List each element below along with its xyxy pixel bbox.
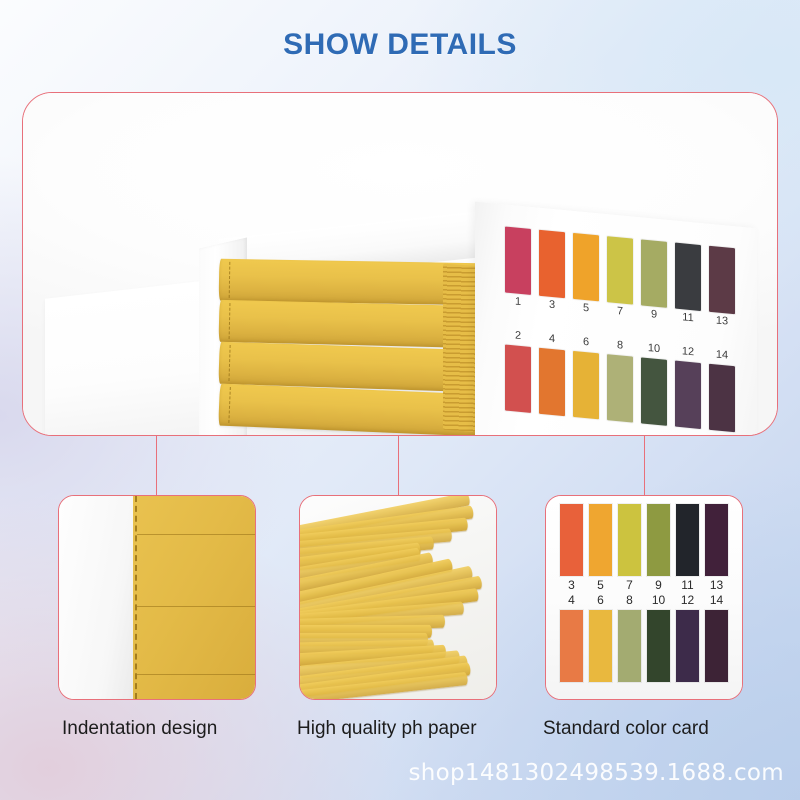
color-swatch-cell: 7 [607,236,633,324]
color-swatch [709,246,735,314]
ph-value-label: 1 [505,295,531,309]
color-swatch [647,610,670,682]
page-title: SHOW DETAILS [0,28,800,62]
ph-paper-surface [133,496,256,699]
color-swatch [573,233,599,301]
color-swatch-cell: 5 [573,233,599,321]
connector-line-1 [156,436,157,495]
ph-value-label: 5 [589,578,612,592]
color-card-row-odd: 35791113 [552,504,736,576]
color-swatch [560,610,583,682]
color-card-cell: 4 [560,610,583,682]
color-swatch [675,243,701,311]
color-card-cell: 10 [647,610,670,682]
color-swatch [676,504,699,576]
color-card-cell: 11 [676,504,699,576]
booklet-front-flap [45,279,217,436]
color-swatch [641,357,667,425]
color-swatch [709,364,735,432]
color-swatch-cell: 13 [709,246,735,334]
color-swatch-cell: 3 [539,230,565,318]
ph-value-label: 12 [676,593,699,607]
color-chart-row-odd: 135791113 [505,227,745,336]
ph-value-label: 13 [705,578,728,592]
color-swatch-cell: 8 [607,336,633,424]
ph-value-label: 9 [647,578,670,592]
ph-value-label: 11 [676,578,699,592]
color-swatch [573,351,599,419]
color-card-cell: 12 [676,610,699,682]
thumbnail-high-quality-ph-paper[interactable] [299,495,497,700]
color-chart-row-even: 2468101214 [505,327,745,436]
color-swatch [705,504,728,576]
indentation-crease [137,606,256,607]
color-swatch [618,504,641,576]
color-swatch-cell: 14 [709,346,735,434]
color-swatch-cell: 1 [505,227,531,315]
ph-value-label: 10 [641,341,667,355]
connector-line-3 [644,436,645,495]
color-card-cell: 7 [618,504,641,576]
indentation-crease [137,534,256,535]
color-swatch [641,239,667,307]
color-swatch [505,345,531,413]
color-card-cell: 3 [560,504,583,576]
color-swatch [607,236,633,304]
color-card-cell: 14 [705,610,728,682]
color-swatch [705,610,728,682]
ph-value-label: 4 [560,593,583,607]
caption-indentation-design: Indentation design [62,718,217,740]
color-swatch [618,610,641,682]
perforation-line [228,345,230,381]
ph-strip-stack [219,261,481,436]
ph-value-label: 3 [539,298,565,312]
ph-value-label: 6 [573,335,599,349]
ph-value-label: 13 [709,314,735,328]
ph-value-label: 10 [647,593,670,607]
caption-standard-color-card: Standard color card [543,718,709,740]
color-swatch [539,230,565,298]
hero-product-panel: 135791113 2468101214 [22,92,778,436]
perforation-line [228,387,231,423]
color-card-cell: 6 [589,610,612,682]
color-swatch [676,610,699,682]
color-swatch [589,610,612,682]
ph-value-label: 14 [705,593,728,607]
ph-strip [219,259,482,306]
color-swatch-cell: 12 [675,343,701,431]
thumbnail-indentation-design[interactable] [58,495,256,700]
shop-watermark: shop1481302498539.1688.com [408,760,784,786]
color-swatch-cell: 9 [641,239,667,327]
connector-line-2 [398,436,399,495]
perforation-line [229,303,231,339]
ph-value-label: 9 [641,307,667,321]
ph-value-label: 8 [607,338,633,352]
color-swatch [647,504,670,576]
color-card-cell: 13 [705,504,728,576]
color-card-cell: 8 [618,610,641,682]
ph-value-label: 11 [675,311,701,325]
color-swatch-cell: 2 [505,327,531,415]
booklet-cover-edge [59,496,133,699]
perforation-line [229,262,231,298]
hero-color-chart-panel: 135791113 2468101214 [475,202,757,436]
color-swatch [505,227,531,295]
color-card-cell: 9 [647,504,670,576]
color-swatch [539,348,565,416]
color-swatch [675,361,701,429]
caption-high-quality-ph-paper: High quality ph paper [297,718,477,740]
color-swatch-cell: 6 [573,333,599,421]
ph-value-label: 7 [607,304,633,318]
color-swatch [560,504,583,576]
indentation-crease [137,674,256,675]
ph-value-label: 3 [560,578,583,592]
color-swatch [607,354,633,422]
ph-value-label: 8 [618,593,641,607]
color-card-row-even: 468101214 [552,610,736,682]
color-swatch-cell: 4 [539,330,565,418]
ph-value-label: 7 [618,578,641,592]
ph-value-label: 2 [505,329,531,343]
ph-value-label: 12 [675,345,701,359]
color-card-cell: 5 [589,504,612,576]
thumbnail-standard-color-card[interactable]: 35791113 468101214 [545,495,743,700]
ph-value-label: 5 [573,301,599,315]
product-detail-page: SHOW DETAILS 135791113 2468101214 [0,0,800,800]
color-swatch-cell: 10 [641,339,667,427]
color-swatch-cell: 11 [675,243,701,331]
color-swatch [589,504,612,576]
ph-value-label: 4 [539,332,565,346]
perforation-dashed-line [135,496,137,699]
ph-value-label: 14 [709,348,735,362]
ph-value-label: 6 [589,593,612,607]
